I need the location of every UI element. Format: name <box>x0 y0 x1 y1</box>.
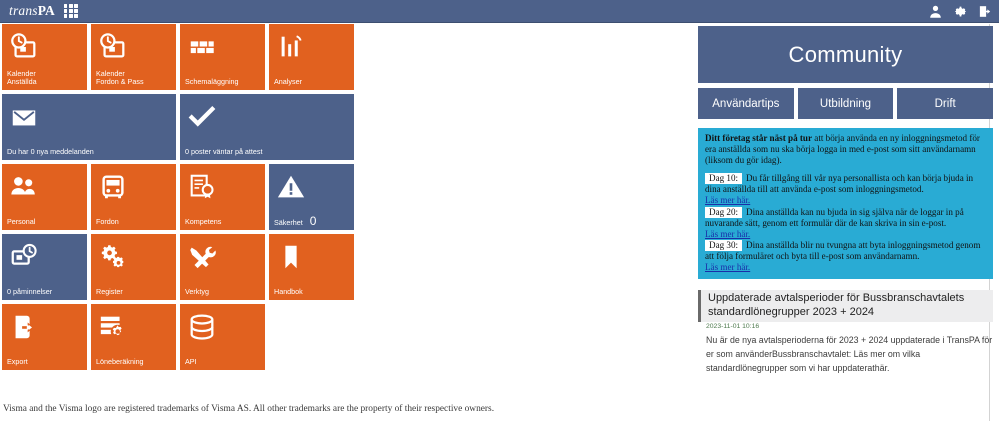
tile-sakerhet[interactable]: Säkerhet 0 <box>269 164 354 230</box>
tile-kalender-anstallda[interactable]: Kalender Anställda <box>2 24 87 90</box>
tile-handbok[interactable]: Handbok <box>269 234 354 300</box>
logo-prefix: trans <box>9 3 38 18</box>
promo-banner: Ditt företag står näst på tur att börja … <box>698 128 993 279</box>
tile-row: Export Löneberäkning API <box>2 304 362 370</box>
app-logo[interactable]: transPA <box>9 3 55 19</box>
tile-paminnelser[interactable]: 0 påminnelser <box>2 234 87 300</box>
calendar-person-icon <box>9 32 39 62</box>
tile-label: Schemaläggning <box>185 78 261 87</box>
tile-label: 0 påminnelser <box>7 288 83 297</box>
tile-grid: Kalender Anställda Kalender Fordon & Pas… <box>2 24 362 374</box>
community-panel: Community Användartips Utbildning Drift … <box>698 26 993 375</box>
top-bar: transPA <box>0 0 999 23</box>
news-date: 2023-11-01 10:16 <box>706 323 993 330</box>
tile-label: Löneberäkning <box>96 358 172 367</box>
promo-item-text: Dina anställda kan nu bjuda in sig själv… <box>705 207 964 228</box>
tile-personal[interactable]: Personal <box>2 164 87 230</box>
people-icon <box>9 172 39 202</box>
promo-item: Dag 30:Dina anställda blir nu tvungna at… <box>705 240 986 273</box>
tile-label: Export <box>7 358 83 367</box>
tile-label: Du har 0 nya meddelanden <box>7 148 172 157</box>
promo-item-text: Dina anställda blir nu tvungna att byta … <box>705 240 980 261</box>
tile-label: 0 poster väntar på attest <box>185 148 350 157</box>
news-title[interactable]: Uppdaterade avtalsperioder för Bussbrans… <box>698 290 993 322</box>
tile-verktyg[interactable]: Verktyg <box>180 234 265 300</box>
tile-label: Analyser <box>274 78 350 87</box>
tile-kompetens[interactable]: Kompetens <box>180 164 265 230</box>
tile-label: Kalender Fordon & Pass <box>96 70 172 87</box>
logout-icon[interactable] <box>978 4 993 19</box>
tile-label: Kompetens <box>185 218 261 227</box>
tile-label: Personal <box>7 218 83 227</box>
reminder-clock-icon <box>9 242 39 272</box>
warning-icon <box>276 172 306 202</box>
tile-label: Verktyg <box>185 288 261 297</box>
tile-export[interactable]: Export <box>2 304 87 370</box>
checkmark-icon <box>187 102 217 132</box>
community-tabs: Användartips Utbildning Drift <box>698 88 993 119</box>
tile-meddelanden[interactable]: Du har 0 nya meddelanden <box>2 94 176 160</box>
day-badge: Dag 30: <box>705 240 742 251</box>
promo-item-text: Du får tillgång till vår nya personallis… <box>705 173 973 194</box>
news-body: Nu är de nya avtalsperioderna för 2023 +… <box>698 333 993 375</box>
apps-grid-icon[interactable] <box>64 4 78 18</box>
tile-label: Säkerhet <box>274 218 303 227</box>
tile-row: Kalender Anställda Kalender Fordon & Pas… <box>2 24 362 90</box>
payroll-settings-icon <box>98 312 128 342</box>
tile-fordon[interactable]: Fordon <box>91 164 176 230</box>
tile-row: Du har 0 nya meddelanden 0 poster väntar… <box>2 94 362 160</box>
tile-schemalaggning[interactable]: Schemaläggning <box>180 24 265 90</box>
news-item[interactable]: Uppdaterade avtalsperioder för Bussbrans… <box>698 290 993 375</box>
tab-drift[interactable]: Drift <box>897 88 993 119</box>
promo-item: Dag 10:Du får tillgång till vår nya pers… <box>705 173 986 206</box>
bookmark-icon <box>276 242 306 272</box>
tile-analyser[interactable]: Analyser <box>269 24 354 90</box>
logo-suffix: PA <box>38 3 55 18</box>
tab-utbildning[interactable]: Utbildning <box>798 88 894 119</box>
user-icon[interactable] <box>928 4 943 19</box>
tile-label: Register <box>96 288 172 297</box>
day-badge: Dag 20: <box>705 207 742 218</box>
tile-label-row: Säkerhet 0 <box>274 214 350 228</box>
read-more-link[interactable]: Läs mer här. <box>705 195 750 205</box>
tile-kalender-fordon-pass[interactable]: Kalender Fordon & Pass <box>91 24 176 90</box>
status-badge: 0 <box>310 214 317 228</box>
read-more-link[interactable]: Läs mer här. <box>705 229 750 239</box>
bus-icon <box>98 172 128 202</box>
blocks-icon <box>187 32 217 62</box>
tile-row: 0 påminnelser Register Verktyg Handbok <box>2 234 362 300</box>
promo-intro: Ditt företag står näst på tur att börja … <box>705 133 986 166</box>
gear-icon[interactable] <box>953 4 968 19</box>
gears-icon <box>98 242 128 272</box>
day-badge: Dag 10: <box>705 173 742 184</box>
tools-icon <box>187 242 217 272</box>
bar-chart-icon <box>276 32 306 62</box>
tile-attest[interactable]: 0 poster väntar på attest <box>180 94 354 160</box>
community-title: Community <box>698 26 993 83</box>
tab-anvandartips[interactable]: Användartips <box>698 88 794 119</box>
export-icon <box>9 312 39 342</box>
tile-row: Personal Fordon Kompetens Säkerhet 0 <box>2 164 362 230</box>
certificate-icon <box>187 172 217 202</box>
tile-label: Kalender Anställda <box>7 70 83 87</box>
brand-area: transPA <box>0 3 78 19</box>
database-icon <box>187 312 217 342</box>
tile-label: API <box>185 358 261 367</box>
tile-register[interactable]: Register <box>91 234 176 300</box>
envelope-icon <box>9 102 39 132</box>
tile-api[interactable]: API <box>180 304 265 370</box>
tile-label: Handbok <box>274 288 350 297</box>
read-more-link[interactable]: Läs mer här. <box>705 262 750 272</box>
tile-label: Fordon <box>96 218 172 227</box>
calendar-person-icon <box>98 32 128 62</box>
promo-intro-bold: Ditt företag står näst på tur <box>705 133 812 143</box>
promo-item: Dag 20:Dina anställda kan nu bjuda in si… <box>705 207 986 240</box>
footer-trademark-text: Visma and the Visma logo are registered … <box>3 404 643 414</box>
tile-loneberakning[interactable]: Löneberäkning <box>91 304 176 370</box>
top-bar-actions <box>928 4 999 19</box>
